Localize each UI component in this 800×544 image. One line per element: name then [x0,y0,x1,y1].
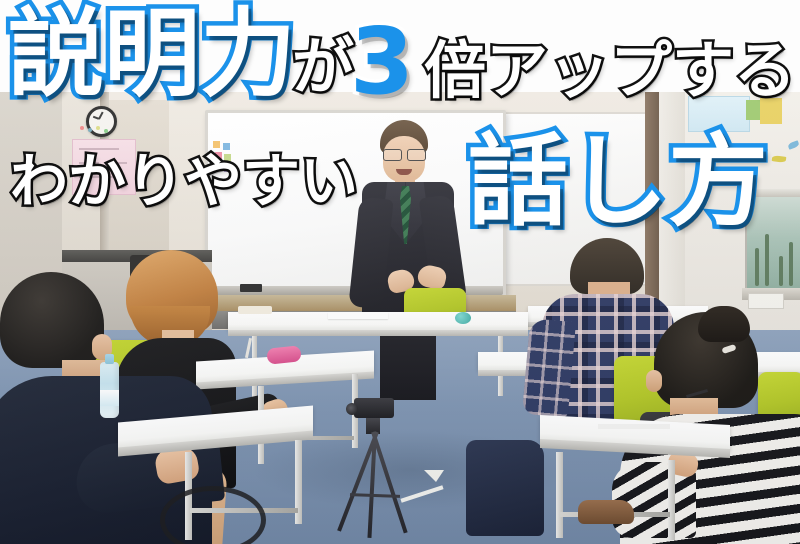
poster-dots [80,126,110,136]
glasses-icon [382,149,426,159]
headline-segment-bai-up-suru: 倍アップする!! [424,40,800,102]
plaid-man-arm [522,318,576,418]
camera-lens-icon [346,403,358,415]
headline-segment-setsumeiryoku: 説明力 [8,6,296,102]
headline-segment-ga: が [292,36,354,98]
floor-marker [400,470,446,504]
shoe-under-table [578,500,634,524]
headline-segment-three: 3 [350,16,414,108]
tripod-brace [350,493,400,498]
aquarium-label [748,293,784,309]
bottle-label [100,390,119,406]
paper-on-right-table [598,424,670,429]
table-leg [668,460,675,540]
subheadline-hanashikata: 話し方 [468,132,768,232]
foreground-person-hair [0,272,104,368]
subheadline-wakariyasui: わかりやすい [10,152,358,210]
seminar-banner: 説明力 が 3 倍アップする!! わかりやすい 話し方 [0,0,800,544]
striped-woman-hair-bun [698,306,750,342]
teal-object [455,312,471,324]
handout-sheet [328,312,388,319]
water-bottle [100,362,119,418]
video-camera-body [354,398,394,418]
table-leg [556,452,563,538]
striped-woman-ear [646,370,662,392]
bag-on-floor [466,440,544,536]
